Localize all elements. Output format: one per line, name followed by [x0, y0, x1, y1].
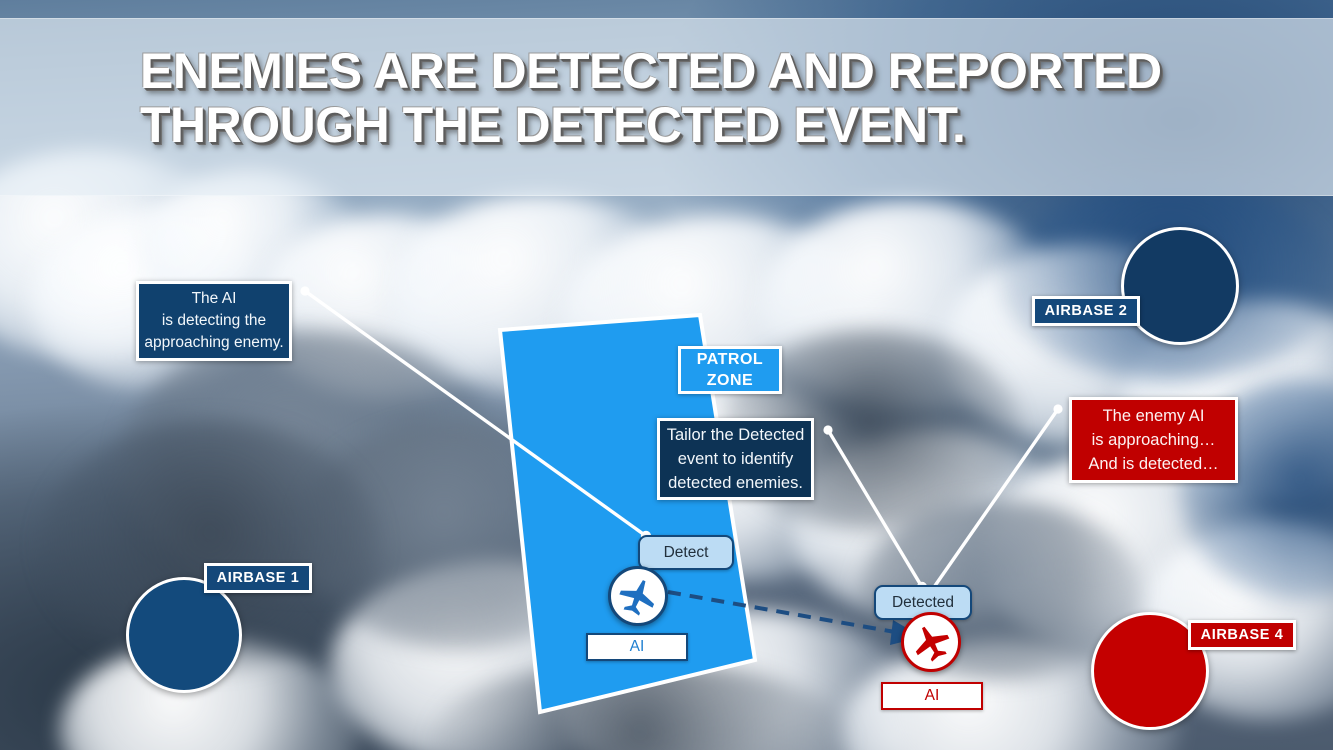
callout-ai-detecting-line-2: is detecting the — [162, 310, 266, 332]
airbase-4-label[interactable]: AIRBASE 4 — [1188, 620, 1296, 650]
callout-tailor-detected-line-3: detected enemies. — [668, 471, 803, 495]
event-chip-detect[interactable]: Detect — [638, 535, 734, 570]
airbase-2-label[interactable]: AIRBASE 2 — [1032, 296, 1140, 326]
patrol-zone-label[interactable]: PATROL ZONE — [678, 346, 782, 394]
callout-ai-detecting-line-1: The AI — [192, 288, 237, 310]
callout-enemy-approaching-line-1: The enemy AI — [1103, 404, 1205, 428]
leader-line-enemy-approaching — [932, 404, 1063, 590]
fighter-jet-icon — [909, 620, 953, 664]
airbase-2-circle[interactable] — [1121, 227, 1239, 345]
slide-canvas: ENEMIES ARE DETECTED AND REPORTED THROUG… — [0, 0, 1333, 750]
callout-tailor-detected[interactable]: Tailor the Detected event to identify de… — [657, 418, 814, 500]
airbase-1-label[interactable]: AIRBASE 1 — [204, 563, 312, 593]
airbase-1-circle[interactable] — [126, 577, 242, 693]
callout-tailor-detected-line-1: Tailor the Detected — [667, 423, 805, 447]
leader-line-tailor-detected — [823, 425, 927, 592]
enemy-ai-label[interactable]: AI — [881, 682, 983, 710]
callout-enemy-approaching-line-3: And is detected… — [1088, 452, 1218, 476]
patrol-zone-label-line-2: ZONE — [707, 370, 753, 391]
callout-enemy-approaching-line-2: is approaching… — [1092, 428, 1216, 452]
patrol-zone-label-line-1: PATROL — [697, 349, 763, 370]
callout-enemy-approaching[interactable]: The enemy AI is approaching… And is dete… — [1069, 397, 1238, 483]
callout-tailor-detected-line-2: event to identify — [678, 447, 794, 471]
friendly-ai-plane-badge[interactable] — [608, 566, 668, 626]
callout-ai-detecting-line-3: approaching enemy. — [144, 332, 283, 354]
friendly-ai-label[interactable]: AI — [586, 633, 688, 661]
callout-ai-detecting[interactable]: The AI is detecting the approaching enem… — [136, 281, 292, 361]
enemy-ai-plane-badge[interactable] — [901, 612, 961, 672]
fighter-jet-icon — [616, 574, 660, 618]
